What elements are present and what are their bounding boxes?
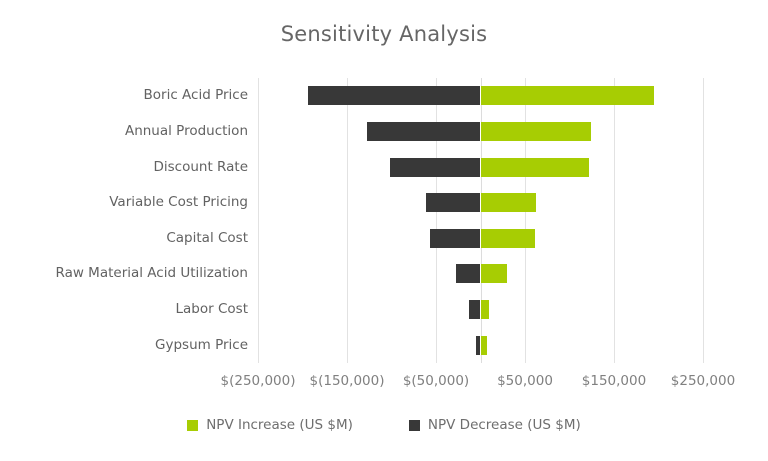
category-label: Annual Production [0, 122, 248, 141]
gridline-3 [525, 78, 526, 363]
x-tick-label: $(150,000) [310, 373, 385, 389]
bar-row [258, 264, 703, 283]
bar-npv-increase[interactable] [481, 158, 590, 177]
x-tick-label: $250,000 [671, 373, 735, 389]
category-label: Boric Acid Price [0, 86, 248, 105]
bar-npv-decrease[interactable] [367, 122, 481, 141]
x-tick-label: $(50,000) [403, 373, 469, 389]
bar-npv-decrease[interactable] [430, 229, 481, 248]
gridline-5 [703, 78, 704, 363]
bar-npv-decrease[interactable] [469, 300, 480, 319]
x-axis-tick-labels: $(250,000)$(150,000)$(50,000)$50,000$150… [0, 373, 768, 395]
x-tick-label: $150,000 [582, 373, 646, 389]
bar-npv-increase[interactable] [481, 300, 490, 319]
chart-title: Sensitivity Analysis [0, 22, 768, 46]
bar-npv-increase[interactable] [481, 264, 507, 283]
bar-row [258, 300, 703, 319]
gridline-2 [436, 78, 437, 363]
bar-row [258, 158, 703, 177]
legend-item[interactable]: NPV Decrease (US $M) [409, 417, 581, 433]
zero-axis-line [481, 78, 482, 363]
category-axis-labels: Boric Acid PriceAnnual ProductionDiscoun… [0, 78, 248, 363]
category-label: Variable Cost Pricing [0, 193, 248, 212]
category-label: Raw Material Acid Utilization [0, 264, 248, 283]
bar-npv-increase[interactable] [481, 122, 592, 141]
chart-legend: NPV Increase (US $M)NPV Decrease (US $M) [0, 417, 768, 433]
plot-area [258, 78, 703, 363]
category-label: Labor Cost [0, 300, 248, 319]
gridline-1 [347, 78, 348, 363]
bar-row [258, 229, 703, 248]
bar-row [258, 122, 703, 141]
bar-row [258, 86, 703, 105]
bar-npv-decrease[interactable] [456, 264, 480, 283]
category-label: Capital Cost [0, 229, 248, 248]
bar-row [258, 336, 703, 355]
bar-npv-increase[interactable] [481, 193, 536, 212]
x-tick-label: $50,000 [497, 373, 553, 389]
bar-npv-decrease[interactable] [426, 193, 480, 212]
legend-swatch-npv-increase [187, 420, 198, 431]
bar-npv-increase[interactable] [481, 86, 654, 105]
legend-item[interactable]: NPV Increase (US $M) [187, 417, 353, 433]
category-label: Gypsum Price [0, 336, 248, 355]
bar-npv-increase[interactable] [481, 229, 535, 248]
bar-npv-increase[interactable] [481, 336, 487, 355]
gridline-4 [614, 78, 615, 363]
bar-npv-decrease[interactable] [308, 86, 480, 105]
x-tick-label: $(250,000) [221, 373, 296, 389]
gridline-0 [258, 78, 259, 363]
bar-npv-decrease[interactable] [390, 158, 481, 177]
legend-label: NPV Increase (US $M) [206, 417, 353, 433]
sensitivity-analysis-chart: Sensitivity Analysis Boric Acid PriceAnn… [0, 0, 768, 461]
bar-row [258, 193, 703, 212]
category-label: Discount Rate [0, 158, 248, 177]
legend-swatch-npv-decrease [409, 420, 420, 431]
legend-label: NPV Decrease (US $M) [428, 417, 581, 433]
